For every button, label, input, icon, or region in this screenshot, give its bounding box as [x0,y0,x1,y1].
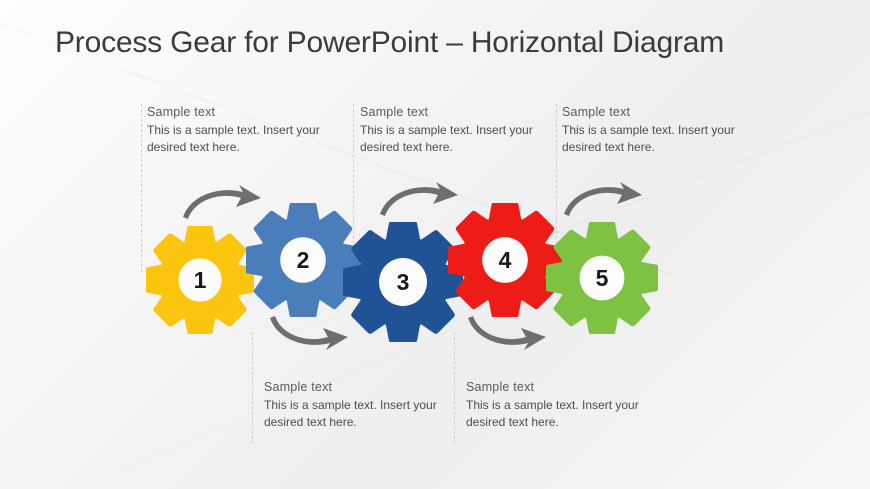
callout-bottom-2: Sample text This is a sample text. Inser… [462,380,652,431]
arrow-2-3-icon [268,312,352,352]
page-title: Process Gear for PowerPoint – Horizontal… [55,26,724,60]
gear-4-red[interactable]: 4 [448,203,562,317]
gear-5-green[interactable]: 5 [546,222,658,334]
gear-3-navy[interactable]: 3 [343,222,463,342]
callout-heading: Sample text [147,105,337,119]
gear-3-shape [343,222,463,342]
callout-top-1: Sample text This is a sample text. Inser… [147,105,337,156]
callout-heading: Sample text [260,380,450,394]
gear-4-shape [448,203,562,317]
arrow-5-end-icon [562,180,646,220]
divider-line-2 [252,332,253,444]
callout-body: This is a sample text. Insert your desir… [462,397,652,431]
gear-1-shape [146,226,254,334]
divider-line-4 [454,332,455,444]
callout-body: This is a sample text. Insert your desir… [360,122,550,156]
arrow-4-5-icon [466,312,550,352]
callout-body: This is a sample text. Insert your desir… [147,122,337,156]
callout-top-2: Sample text This is a sample text. Inser… [360,105,550,156]
callout-heading: Sample text [462,380,652,394]
gear-1-yellow[interactable]: 1 [146,226,254,334]
callout-heading: Sample text [360,105,550,119]
callout-body: This is a sample text. Insert your desir… [562,122,752,156]
divider-line-1 [141,104,142,272]
callout-bottom-1: Sample text This is a sample text. Inser… [260,380,450,431]
slide-canvas: Process Gear for PowerPoint – Horizontal… [0,0,870,489]
callout-top-3: Sample text This is a sample text. Inser… [562,105,752,156]
callout-body: This is a sample text. Insert your desir… [260,397,450,431]
callout-heading: Sample text [562,105,752,119]
gear-5-shape [546,222,658,334]
